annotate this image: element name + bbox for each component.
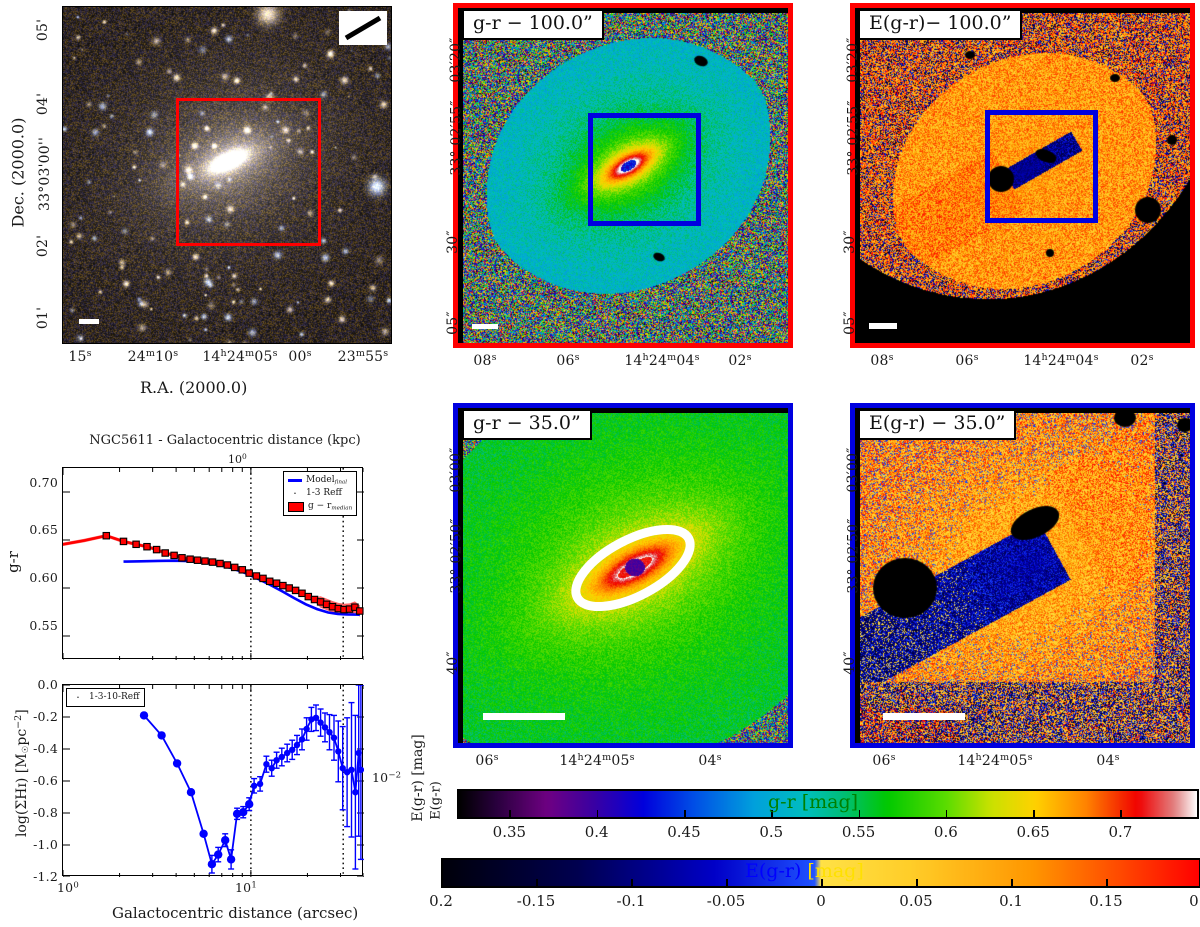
- rgb-ytick-4: 01': [35, 293, 51, 343]
- colorbar-tick: [916, 879, 918, 888]
- colorbar-gr: E(g-r) g-r [mag] 0.350.40.450.50.550.60.…: [425, 787, 1200, 839]
- egr35-excess-map: [860, 413, 1195, 748]
- colorbar-egr-title: E(g-r) [mag]: [745, 860, 864, 882]
- colorbar-tick: [726, 879, 728, 888]
- rgb-xaxis-label: R.A. (2000.0): [140, 378, 247, 397]
- chart1-legend: Modelfinal · 1-3 Reff g − rmedian: [283, 471, 357, 516]
- gr100-xtick-2: 14h24m04s: [597, 352, 727, 369]
- panel-gr-35: g-r − 35.0” 03′00″ 33° 02′50″ 40″ 06s 14…: [425, 400, 795, 800]
- colorbar-tick-label: 0.1: [999, 892, 1023, 910]
- chart1-ytick-0: 0.55: [16, 618, 58, 633]
- colorbar-tick-label: 0.2: [429, 892, 453, 910]
- colorbar-tick-label: -0.15: [517, 892, 555, 910]
- egr100-xtick-3: 02s: [1112, 352, 1172, 369]
- panel-egr-35: E(g-r) − 35.0” 03′00″ 33° 02′50″ 40″ 06s…: [800, 400, 1200, 800]
- chart1-legend-row-0: Modelfinal: [288, 474, 352, 487]
- egr100-panel-label: E(g-r)− 100.0”: [858, 9, 1022, 40]
- colorbar-egr-title-left: E(g-r): [745, 860, 801, 882]
- colorbar-tick-label: 0: [816, 892, 826, 910]
- egr35-scalebar: [883, 713, 965, 720]
- colorbar-tick: [631, 879, 633, 888]
- legend-dot-swatch: ·: [288, 491, 302, 497]
- chart2-right-tick: 10−2: [372, 770, 401, 785]
- colorbar-tick-label: 0.45: [667, 823, 700, 841]
- gr100-ytick-2: 30″: [445, 214, 461, 270]
- chart2-plot-area: [62, 684, 363, 876]
- colorbar-tick: [536, 879, 538, 888]
- gr100-xtick-0: 08s: [455, 352, 515, 369]
- colorbar-gr-side-label: E(g-r): [429, 778, 444, 824]
- egr100-ytick-3: 05″: [842, 295, 858, 351]
- rgb-yaxis-label: Dec. (2000.0): [9, 93, 28, 253]
- legend-line-swatch: [288, 479, 302, 482]
- rgb-ytick-3: 02': [35, 221, 51, 271]
- colorbar-tick: [1120, 810, 1122, 819]
- egr100-ytick-2: 30″: [842, 214, 858, 270]
- legend-label-model: Modelfinal: [306, 474, 347, 487]
- legend-square-swatch: [288, 502, 304, 512]
- egr35-ytick-2: 40″: [842, 635, 858, 691]
- rgb-red-cutout-box: [176, 98, 321, 246]
- gr35-xtick-1: 14h24m05s: [532, 752, 662, 769]
- egr35-frame: [850, 403, 1195, 748]
- chart2-yaxis-label: log(ΣHɪ) [M☉pc−2]: [13, 693, 31, 853]
- chart2-legend: · 1-3-10-Reff: [66, 688, 145, 707]
- colorbar-tick-label: -0.05: [707, 892, 745, 910]
- colorbar-tick-label: 0.7: [1108, 823, 1132, 841]
- gr100-xtick-3: 02s: [710, 352, 770, 369]
- legend-dot-swatch-2: ·: [71, 695, 85, 701]
- egr100-xtick-1: 06s: [937, 352, 997, 369]
- egr100-scalebar: [869, 323, 897, 329]
- panel-egr-100: E(g-r)− 100.0” 03′20″ 33° 02′55″ 30″ 05″…: [800, 0, 1200, 395]
- colorbar-egr-title-right: [mag]: [807, 860, 863, 882]
- colorbar-tick: [509, 810, 511, 819]
- rgb-image-frame: [62, 6, 392, 344]
- egr35-xtick-2: 04s: [1078, 752, 1138, 769]
- colorbar-tick-label: -0.1: [617, 892, 646, 910]
- colorbar-tick-label: 0.6: [934, 823, 958, 841]
- egr100-ytick-1: 33° 02′55″: [846, 81, 862, 196]
- chart1-yaxis-label: g-r: [4, 527, 22, 597]
- colorbar-tick-label: 0.35: [493, 823, 526, 841]
- egr100-blue-cutout-box: [985, 110, 1098, 223]
- chart1-title: NGC5611 - Galactocentric distance (kpc): [60, 433, 390, 448]
- chart1-ytick-1: 0.60: [16, 570, 58, 585]
- panel-rgb-image: 05' 04' 33°03'00'' 02' 01' 15s 24m10s 14…: [0, 0, 420, 400]
- colorbar-tick: [1011, 879, 1013, 888]
- gr35-xtick-0: 06s: [457, 752, 517, 769]
- colorbar-tick-label: 0.55: [842, 823, 875, 841]
- gr100-frame: [453, 3, 793, 348]
- colorbar-tick-label: 0.4: [585, 823, 609, 841]
- colorbar-tick-label: 0.2: [1189, 892, 1200, 910]
- legend-label-gr: g − rmedian: [308, 500, 352, 513]
- colorbar-tick: [859, 810, 861, 819]
- gr100-scalebar: [472, 324, 498, 329]
- chart1-legend-row-2: g − rmedian: [288, 500, 352, 513]
- chart1-top-tick-label: 100: [228, 452, 247, 466]
- colorbar-tick: [597, 810, 599, 819]
- colorbar-tick: [946, 810, 948, 819]
- chart2-ytick-0: 0.0: [12, 677, 58, 692]
- egr35-ytick-1: 33° 02′50″: [846, 499, 862, 614]
- colorbar-tick: [684, 810, 686, 819]
- chart-color-profile: NGC5611 - Galactocentric distance (kpc) …: [0, 425, 425, 670]
- gr35-ellipse-overlay: [458, 408, 793, 748]
- rgb-scalebar: [79, 319, 99, 324]
- gr100-blue-cutout-box: [588, 113, 701, 226]
- colorbar-tick: [1106, 879, 1108, 888]
- rgb-ytick-2: 33°03'00'': [37, 119, 53, 229]
- colorbar-tick-label: 0.15: [1089, 892, 1122, 910]
- egr100-xtick-0: 08s: [852, 352, 912, 369]
- gr35-xtick-2: 04s: [680, 752, 740, 769]
- egr35-ytick-0: 03′00″: [845, 435, 861, 505]
- rgb-xtick-4: 23m55s: [318, 348, 408, 365]
- chart1-ytick-3: 0.70: [16, 475, 58, 490]
- gr35-frame: [453, 403, 793, 748]
- egr35-panel-label: E(g-r) − 35.0”: [858, 409, 1016, 440]
- egr35-xtick-1: 14h24m05s: [930, 752, 1060, 769]
- rgb-ytick-0: 05': [35, 5, 51, 55]
- rgb-xtick-0: 15s: [50, 348, 110, 365]
- chart2-xaxis-label: Galactocentric distance (arcsec): [112, 904, 358, 922]
- legend-label-reff: 1-3 Reff: [306, 487, 342, 500]
- chart-hi-profile: · 1-3-10-Reff 0.0 -0.2 -0.4 -0.6 -0.8 -1…: [0, 672, 425, 927]
- gr100-panel-label: g-r − 100.0”: [462, 9, 604, 40]
- chart2-legend-row-0: · 1-3-10-Reff: [71, 691, 140, 704]
- gr100-xtick-1: 06s: [538, 352, 598, 369]
- colorbar-tick-label: 0.5: [759, 823, 783, 841]
- gr100-ytick-3: 05″: [445, 295, 461, 351]
- chart2-xtick-0: 100: [48, 880, 88, 895]
- colorbar-gr-title: g-r [mag]: [768, 791, 858, 813]
- chart1-ytick-2: 0.65: [16, 522, 58, 537]
- egr35-xtick-0: 06s: [854, 752, 914, 769]
- gr100-ytick-1: 33° 02′55″: [449, 81, 465, 196]
- egr100-xtick-2: 14h24m04s: [996, 352, 1126, 369]
- egr100-frame: [850, 3, 1195, 348]
- colorbar-tick-label: 0.05: [899, 892, 932, 910]
- colorbar-tick-label: 0.65: [1016, 823, 1049, 841]
- chart2-xtick-1: 101: [226, 880, 266, 895]
- colorbar-tick: [1033, 810, 1035, 819]
- chart1-legend-row-1: · 1-3 Reff: [288, 487, 352, 500]
- chart2-curve: [63, 685, 364, 877]
- gr35-ytick-1: 33° 02′50″: [449, 499, 465, 614]
- legend-label-reff-2: 1-3-10-Reff: [89, 691, 140, 704]
- chart2-right-axis-label: E(g-r) [mag]: [410, 718, 426, 838]
- gr35-ytick-0: 03′00″: [448, 435, 464, 505]
- compass-slash-box: [339, 11, 387, 45]
- gr35-panel-label: g-r − 35.0”: [462, 409, 592, 440]
- gr35-ytick-2: 40″: [445, 635, 461, 691]
- colorbar-egr: E(g-r) [mag] 0.2-0.15-0.1-0.0500.050.10.…: [425, 858, 1200, 918]
- gr35-scalebar: [483, 713, 565, 720]
- panel-gr-100: g-r − 100.0” 03′20″ 33° 02′55″ 30″ 05″ 0…: [425, 0, 795, 395]
